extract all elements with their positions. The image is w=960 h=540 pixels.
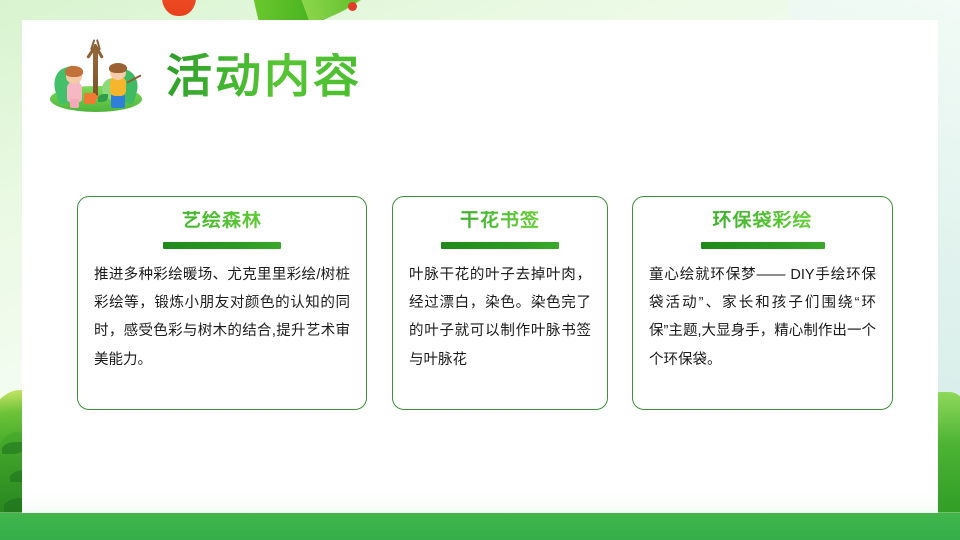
card-divider xyxy=(441,242,559,249)
content-card-1[interactable]: 艺绘森林 推进多种彩绘暖场、尤克里里彩绘/树桩彩绘等，锻炼小朋友对颜色的认知的同… xyxy=(77,196,367,410)
card-title: 干花书签 xyxy=(409,211,591,232)
card-body-text: 叶脉干花的叶子去掉叶肉，经过漂白，染色。染色完了的叶子就可以制作叶脉书签与叶脉花 xyxy=(409,261,591,374)
content-card-3[interactable]: 环保袋彩绘 童心绘就环保梦—— DIY手绘环保袋活动”、家长和孩子们围绕“环保”… xyxy=(632,196,893,410)
content-card-2[interactable]: 干花书签 叶脉干花的叶子去掉叶肉，经过漂白，染色。染色完了的叶子就可以制作叶脉书… xyxy=(392,196,608,410)
card-body-text: 推进多种彩绘暖场、尤克里里彩绘/树桩彩绘等，锻炼小朋友对颜色的认知的同时，感受色… xyxy=(94,261,350,374)
footer-band xyxy=(0,513,960,540)
card-divider xyxy=(701,242,825,249)
berry-decoration-icon xyxy=(348,2,357,11)
content-panel: 活动内容 艺绘森林 推进多种彩绘暖场、尤克里里彩绘/树桩彩绘等，锻炼小朋友对颜色… xyxy=(22,20,938,514)
children-planting-tree-icon xyxy=(44,38,148,114)
panel-bottom-fade xyxy=(22,488,938,514)
slide-header: 活动内容 xyxy=(44,38,368,114)
card-title: 环保袋彩绘 xyxy=(649,211,876,232)
card-title: 艺绘森林 xyxy=(94,211,350,232)
cup-decoration-icon xyxy=(162,0,196,16)
card-divider xyxy=(163,242,281,249)
slide-canvas: 活动内容 艺绘森林 推进多种彩绘暖场、尤克里里彩绘/树桩彩绘等，锻炼小朋友对颜色… xyxy=(0,0,960,540)
card-body-text: 童心绘就环保梦—— DIY手绘环保袋活动”、家长和孩子们围绕“环保”主题,大显身… xyxy=(649,261,876,374)
page-title: 活动内容 xyxy=(166,53,368,99)
cards-row: 艺绘森林 推进多种彩绘暖场、尤克里里彩绘/树桩彩绘等，锻炼小朋友对颜色的认知的同… xyxy=(0,196,960,410)
